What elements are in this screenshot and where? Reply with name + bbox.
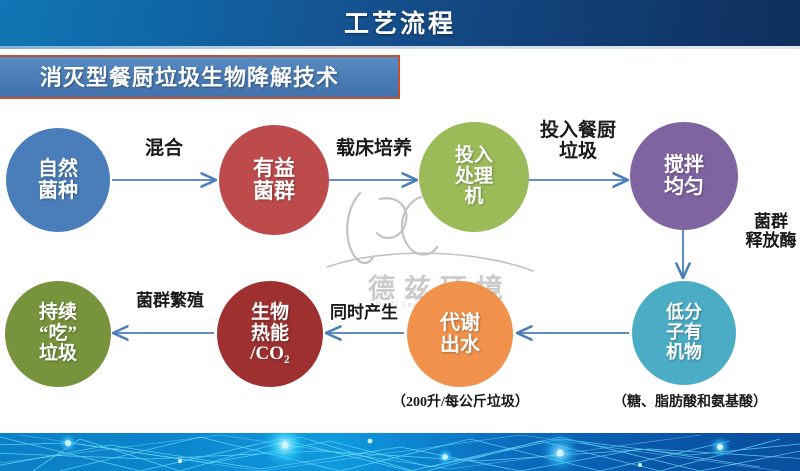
caption-low-mol-organics: （糖、脂肪酸和氨基酸） — [600, 391, 780, 411]
node-keep-eating[interactable]: 持续 “吃” 垃圾 — [5, 281, 111, 387]
node-feed-machine-line-3: 机 — [455, 187, 493, 208]
edge-label-flora-release-enzyme-line-1: 菌群 — [754, 212, 788, 231]
edge-label-mix: 混合 — [118, 138, 210, 159]
node-keep-eating-line-1: 持续 — [39, 303, 77, 324]
node-metabolic-water-line-2: 出水 — [440, 334, 480, 356]
node-bio-heat-co2-line-3: /CO₂ — [250, 344, 289, 365]
node-low-mol-organics[interactable]: 低分 子有 机物 — [632, 281, 736, 385]
node-bio-heat-co2-line-2: 热能 — [250, 324, 289, 345]
node-metabolic-water-line-1: 代谢 — [440, 312, 480, 334]
edge-label-bed-culture: 载床培养 — [322, 138, 426, 159]
edge-label-feed-kitchen-waste: 投入餐厨 垃圾 — [522, 120, 634, 163]
node-beneficial-flora-line-1: 有益 — [253, 157, 295, 180]
edge-label-feed-kitchen-waste-line-2: 垃圾 — [522, 141, 634, 162]
node-feed-machine[interactable]: 投入 处理 机 — [419, 122, 529, 232]
node-low-mol-organics-line-3: 机物 — [666, 343, 702, 363]
edge-label-flora-release-enzyme-line-2: 释放酶 — [742, 231, 800, 250]
node-feed-machine-line-2: 处理 — [455, 167, 493, 188]
edge-label-flora-release-enzyme: 菌群 释放酶 — [742, 212, 800, 250]
node-natural-strain-line-2: 菌种 — [38, 180, 78, 202]
node-stir-evenly[interactable]: 搅拌 均匀 — [630, 122, 738, 230]
node-low-mol-organics-line-2: 子有 — [666, 323, 702, 343]
edge-label-produced-at-same-time: 同时产生 — [318, 303, 410, 322]
edge-label-flora-propagation: 菌群繁殖 — [121, 291, 219, 310]
node-low-mol-organics-line-1: 低分 — [666, 303, 702, 323]
node-bio-heat-co2[interactable]: 生物 热能 /CO₂ — [217, 281, 323, 387]
node-beneficial-flora[interactable]: 有益 菌群 — [219, 125, 329, 235]
caption-metabolic-water: （200升/每公斤垃圾） — [378, 391, 543, 411]
edge-label-feed-kitchen-waste-line-1: 投入餐厨 — [540, 120, 616, 141]
node-feed-machine-line-1: 投入 — [455, 146, 493, 167]
node-bio-heat-co2-line-1: 生物 — [250, 303, 289, 324]
node-keep-eating-line-3: 垃圾 — [39, 344, 77, 365]
network-graphic-icon — [0, 433, 800, 471]
node-natural-strain-line-1: 自然 — [38, 158, 78, 180]
footer-banner — [0, 433, 800, 471]
slide-canvas: 工艺流程 消灭型餐厨垃圾生物降解技术 德兹环境 De Zi Environmen… — [0, 0, 800, 471]
node-natural-strain[interactable]: 自然 菌种 — [6, 128, 110, 232]
node-stir-evenly-line-2: 均匀 — [664, 176, 704, 198]
node-keep-eating-line-2: “吃” — [39, 324, 77, 345]
node-metabolic-water[interactable]: 代谢 出水 — [407, 281, 513, 387]
node-beneficial-flora-line-2: 菌群 — [253, 180, 295, 203]
node-stir-evenly-line-1: 搅拌 — [664, 154, 704, 176]
